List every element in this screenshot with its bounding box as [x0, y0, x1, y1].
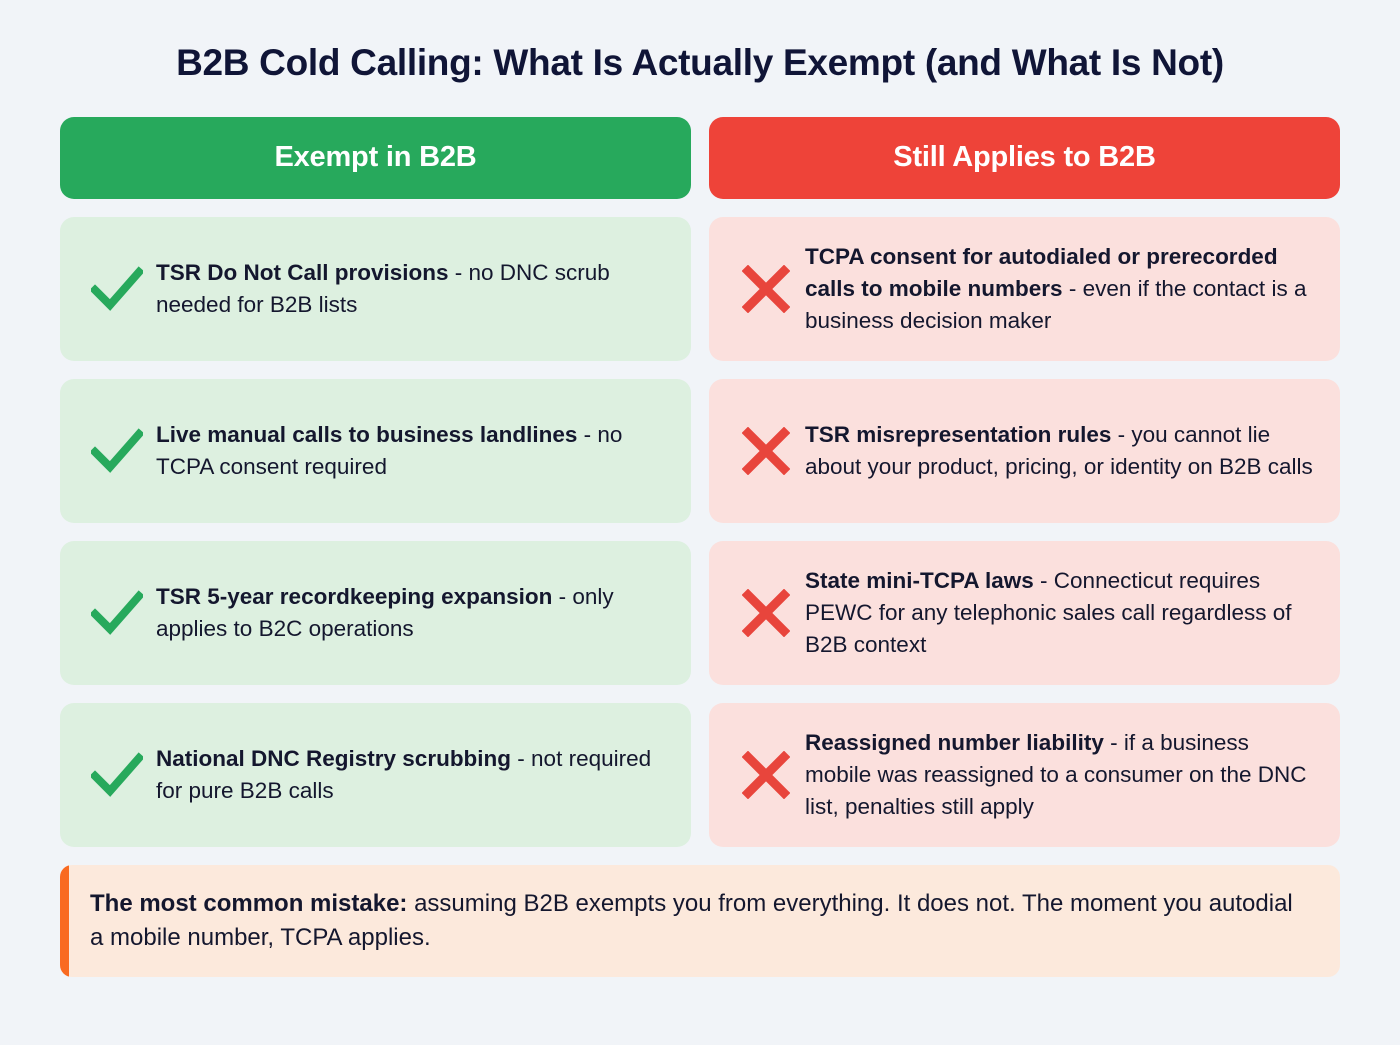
exempt-card-1-text: TSR Do Not Call provisions - no DNC scru…	[156, 257, 669, 321]
cross-icon	[727, 751, 805, 799]
exempt-card-1-bold: TSR Do Not Call provisions	[156, 260, 449, 285]
exempt-card-4: National DNC Registry scrubbing - not re…	[60, 703, 691, 847]
exempt-card-4-text: National DNC Registry scrubbing - not re…	[156, 743, 669, 807]
applies-card-3-text: State mini-TCPA laws - Connecticut requi…	[805, 565, 1318, 661]
exempt-card-3-text: TSR 5-year recordkeeping expansion - onl…	[156, 581, 669, 645]
column-applies: Still Applies to B2B TCPA consent for au…	[709, 117, 1340, 847]
applies-card-3-bold: State mini-TCPA laws	[805, 568, 1034, 593]
check-icon	[78, 590, 156, 636]
applies-card-3: State mini-TCPA laws - Connecticut requi…	[709, 541, 1340, 685]
infographic-page: B2B Cold Calling: What Is Actually Exemp…	[0, 0, 1400, 1045]
applies-card-4-text: Reassigned number liability - if a busin…	[805, 727, 1318, 823]
applies-card-1-text: TCPA consent for autodialed or prerecord…	[805, 241, 1318, 337]
applies-card-4-bold: Reassigned number liability	[805, 730, 1104, 755]
callout-bold: The most common mistake:	[90, 890, 407, 917]
exempt-card-3-bold: TSR 5-year recordkeeping expansion	[156, 584, 552, 609]
exempt-card-4-bold: National DNC Registry scrubbing	[156, 746, 511, 771]
check-icon	[78, 752, 156, 798]
column-header-exempt: Exempt in B2B	[60, 117, 691, 199]
exempt-card-2: Live manual calls to business landlines …	[60, 379, 691, 523]
cross-icon	[727, 427, 805, 475]
comparison-columns: Exempt in B2B TSR Do Not Call provisions…	[60, 117, 1340, 847]
column-header-applies: Still Applies to B2B	[709, 117, 1340, 199]
column-header-applies-label: Still Applies to B2B	[893, 141, 1155, 174]
applies-card-2-text: TSR misrepresentation rules - you cannot…	[805, 419, 1318, 483]
applies-card-2: TSR misrepresentation rules - you cannot…	[709, 379, 1340, 523]
cross-icon	[727, 265, 805, 313]
exempt-card-3: TSR 5-year recordkeeping expansion - onl…	[60, 541, 691, 685]
column-exempt: Exempt in B2B TSR Do Not Call provisions…	[60, 117, 691, 847]
callout-accent-bar	[60, 865, 69, 977]
exempt-card-1: TSR Do Not Call provisions - no DNC scru…	[60, 217, 691, 361]
applies-card-1: TCPA consent for autodialed or prerecord…	[709, 217, 1340, 361]
column-header-exempt-label: Exempt in B2B	[274, 141, 476, 174]
callout-banner: The most common mistake: assuming B2B ex…	[60, 865, 1340, 977]
check-icon	[78, 266, 156, 312]
check-icon	[78, 428, 156, 474]
callout-text: The most common mistake: assuming B2B ex…	[90, 887, 1312, 955]
cross-icon	[727, 589, 805, 637]
exempt-card-2-text: Live manual calls to business landlines …	[156, 419, 669, 483]
exempt-card-2-bold: Live manual calls to business landlines	[156, 422, 577, 447]
applies-card-2-bold: TSR misrepresentation rules	[805, 422, 1111, 447]
page-title: B2B Cold Calling: What Is Actually Exemp…	[60, 0, 1340, 85]
applies-card-4: Reassigned number liability - if a busin…	[709, 703, 1340, 847]
